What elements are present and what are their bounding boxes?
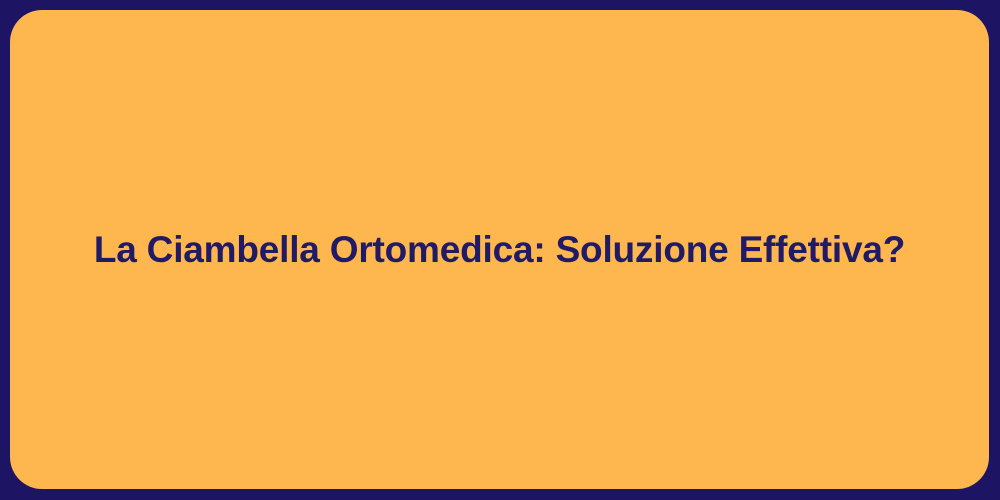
page-background: La Ciambella Ortomedica: Soluzione Effet… [0, 0, 1000, 500]
page-title: La Ciambella Ortomedica: Soluzione Effet… [54, 229, 945, 270]
content-card: La Ciambella Ortomedica: Soluzione Effet… [10, 10, 989, 489]
